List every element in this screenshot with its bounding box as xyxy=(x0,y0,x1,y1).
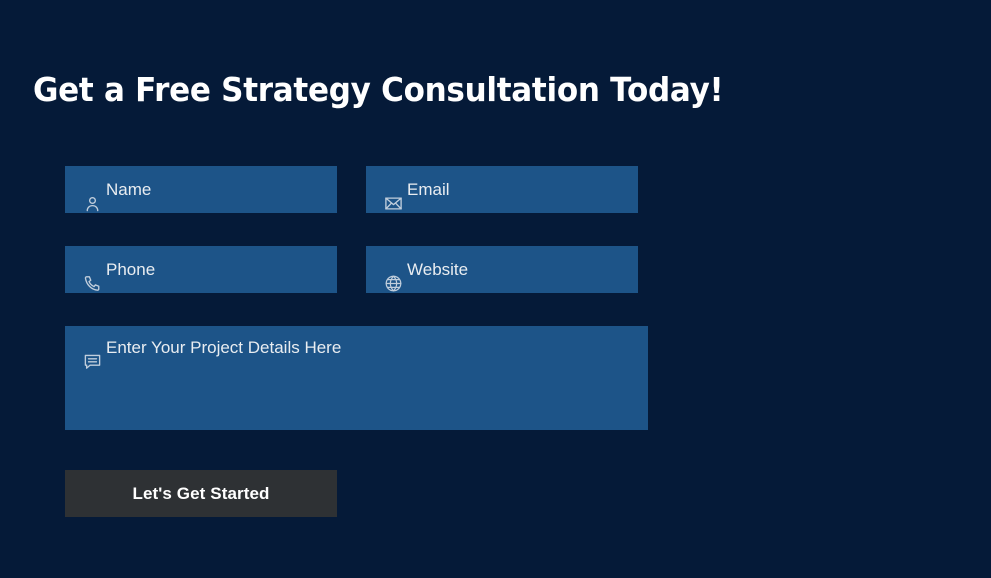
form-row-3: Enter Your Project Details Here xyxy=(65,326,648,430)
form-row-2: Phone Website xyxy=(65,246,648,293)
name-field-wrapper[interactable]: Name xyxy=(65,166,337,213)
phone-field-wrapper[interactable]: Phone xyxy=(65,246,337,293)
website-field-placeholder: Website xyxy=(407,259,468,280)
phone-icon xyxy=(83,274,102,293)
email-field-wrapper[interactable]: Email xyxy=(366,166,638,213)
phone-field-placeholder: Phone xyxy=(106,259,155,280)
email-field-placeholder: Email xyxy=(407,179,450,200)
envelope-icon xyxy=(384,194,403,213)
page-title: Get a Free Strategy Consultation Today! xyxy=(33,68,723,112)
project-details-field-wrapper[interactable]: Enter Your Project Details Here xyxy=(65,326,648,430)
name-field-placeholder: Name xyxy=(106,179,151,200)
website-field-wrapper[interactable]: Website xyxy=(366,246,638,293)
comment-bubble-icon xyxy=(83,352,102,371)
person-icon xyxy=(83,194,102,213)
submit-button[interactable]: Let's Get Started xyxy=(65,470,337,517)
consultation-form-page: Get a Free Strategy Consultation Today! … xyxy=(0,0,991,578)
form-row-1: Name Email xyxy=(65,166,648,213)
globe-icon xyxy=(384,274,403,293)
consultation-form: Name Email xyxy=(65,166,648,463)
project-details-field-placeholder: Enter Your Project Details Here xyxy=(106,337,341,358)
